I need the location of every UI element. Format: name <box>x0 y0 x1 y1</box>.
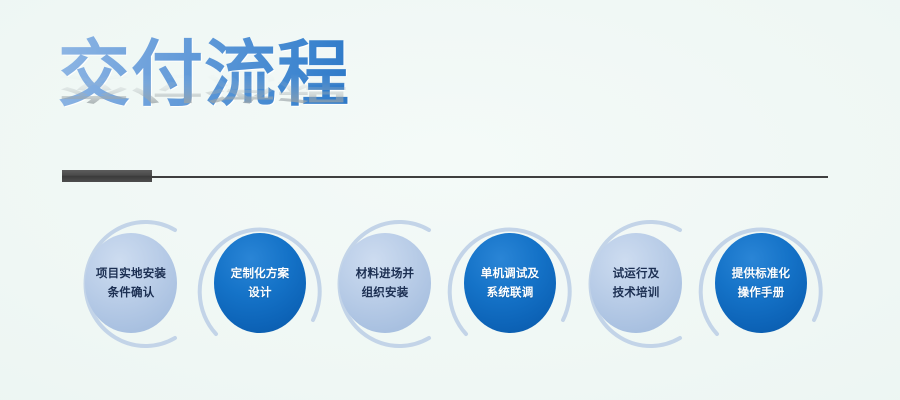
divider-accent-block <box>62 170 152 182</box>
step-bubble[interactable]: 材料进场并 组织安装 <box>339 233 431 333</box>
divider-line <box>62 176 828 178</box>
step-label-line2: 设计 <box>248 283 271 302</box>
step-bubble[interactable]: 试运行及 技术培训 <box>590 233 682 333</box>
step-label-line2: 操作手册 <box>738 283 785 302</box>
step-label-line1: 定制化方案 <box>231 264 290 283</box>
step-label-line1: 提供标准化 <box>732 264 791 283</box>
page-title-reflection: 交付流程 <box>58 71 478 105</box>
step-bubble[interactable]: 提供标准化 操作手册 <box>715 233 807 333</box>
slide-canvas: 交付流程 交付流程 项目实地安装 条件确认 定制化方案 <box>0 0 900 400</box>
step-bubble[interactable]: 定制化方案 设计 <box>214 233 306 333</box>
step-label-line1: 材料进场并 <box>356 264 415 283</box>
step-label-line1: 项目实地安装 <box>96 264 166 283</box>
step-label-line2: 条件确认 <box>108 283 155 302</box>
process-step-1[interactable]: 项目实地安装 条件确认 <box>62 216 200 354</box>
step-bubble[interactable]: 项目实地安装 条件确认 <box>85 233 177 333</box>
process-flow: 项目实地安装 条件确认 定制化方案 设计 材料进场并 <box>0 216 900 366</box>
process-step-4[interactable]: 单机调试及 系统联调 <box>441 216 579 354</box>
title-block: 交付流程 交付流程 <box>58 34 478 164</box>
step-label-line2: 组织安装 <box>362 283 409 302</box>
step-bubble[interactable]: 单机调试及 系统联调 <box>464 233 556 333</box>
step-label-line2: 技术培训 <box>613 283 660 302</box>
step-label-line1: 单机调试及 <box>481 264 540 283</box>
step-label-line2: 系统联调 <box>487 283 534 302</box>
process-step-5[interactable]: 试运行及 技术培训 <box>567 216 705 354</box>
process-step-6[interactable]: 提供标准化 操作手册 <box>692 216 830 354</box>
step-label-line1: 试运行及 <box>613 264 660 283</box>
process-step-3[interactable]: 材料进场并 组织安装 <box>316 216 454 354</box>
process-step-2[interactable]: 定制化方案 设计 <box>191 216 329 354</box>
